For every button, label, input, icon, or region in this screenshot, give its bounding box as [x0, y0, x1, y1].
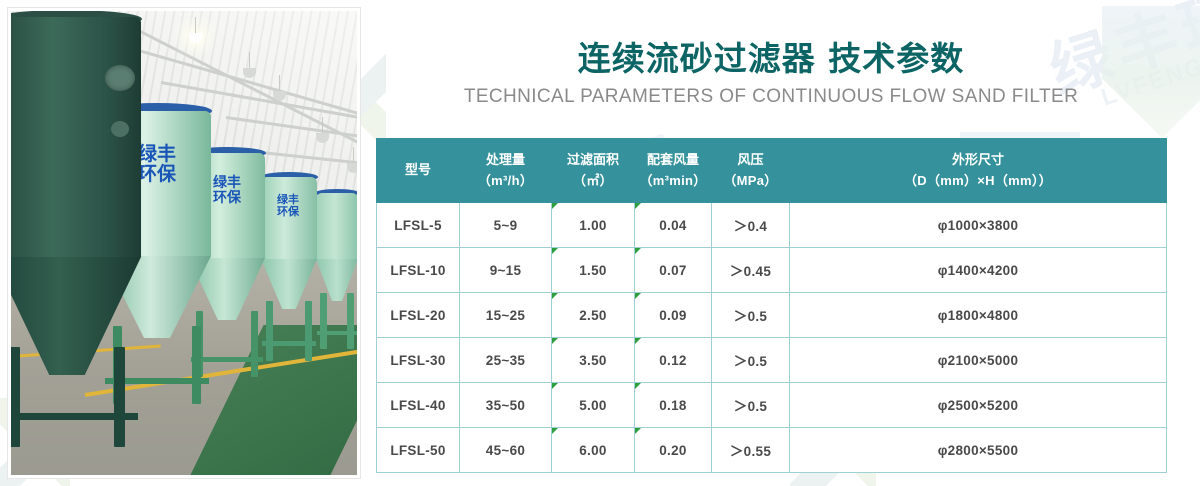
- spec-table-body: LFSL-5 5~9 1.00 0.04 ＞0.4 φ1000×3800 LFS…: [377, 203, 1167, 473]
- ceiling-lamp: [347, 163, 357, 173]
- page-title: 连续流砂过滤器 技术参数: [376, 32, 1166, 80]
- table-row: LFSL-5 5~9 1.00 0.04 ＞0.4 φ1000×3800: [377, 203, 1167, 248]
- col-header-air-pressure-unit: （MPa）: [714, 171, 787, 191]
- col-header-air-pressure: 风压 （MPa）: [712, 139, 790, 203]
- tank-brand-text: 绿丰环保: [211, 175, 243, 204]
- cell-model: LFSL-40: [377, 383, 460, 428]
- cell-air-pressure: ＞0.45: [712, 248, 790, 293]
- cell-air-pressure: ＞0.5: [712, 293, 790, 338]
- col-header-air-volume-label: 配套风量: [637, 150, 709, 170]
- tank-manhole-flange: [105, 65, 135, 91]
- col-header-capacity: 处理量 （m³/h）: [460, 139, 552, 203]
- tank-body: [316, 193, 357, 259]
- content-panel: 连续流砂过滤器 技术参数 TECHNICAL PARAMETERS OF CON…: [376, 0, 1200, 486]
- tank-body: [11, 17, 141, 257]
- table-row: LFSL-50 45~60 6.00 0.20 ＞0.55 φ2800×5500: [377, 428, 1167, 473]
- cell-air-volume: 0.18: [635, 383, 712, 428]
- col-header-air-volume-unit: （m³min）: [637, 171, 709, 191]
- tank-leg: [251, 311, 258, 377]
- filter-tank: [11, 17, 141, 447]
- col-header-area-unit: （㎡）: [554, 171, 632, 191]
- col-header-dimensions-unit: （D（mm）×H（mm））: [792, 171, 1164, 191]
- tank-base-beam: [11, 413, 138, 420]
- cell-air-volume: 0.09: [635, 293, 712, 338]
- cell-dimensions: φ2100×5000: [790, 338, 1167, 383]
- cell-model: LFSL-10: [377, 248, 460, 293]
- tank-leg: [11, 347, 20, 447]
- cell-capacity: 25~35: [460, 338, 552, 383]
- spec-table-header: 型号 处理量 （m³/h） 过滤面积 （㎡） 配套风量 （m³min）: [377, 139, 1167, 203]
- tank-nozzle: [111, 121, 129, 137]
- cell-area: 5.00: [552, 383, 635, 428]
- cell-capacity: 35~50: [460, 383, 552, 428]
- product-photo: 绿丰环保 绿丰环保: [8, 8, 360, 478]
- filter-tank: [316, 193, 357, 353]
- tank-base-beam: [317, 331, 357, 335]
- cell-capacity: 9~15: [460, 248, 552, 293]
- cell-dimensions: φ2500×5200: [790, 383, 1167, 428]
- table-row: LFSL-10 9~15 1.50 0.07 ＞0.45 φ1400×4200: [377, 248, 1167, 293]
- col-header-model-label: 型号: [379, 160, 457, 180]
- page-root: 绿丰环保 绿丰环保: [0, 0, 1200, 486]
- cell-area: 2.50: [552, 293, 635, 338]
- tank-base-beam: [262, 341, 316, 346]
- cell-area: 6.00: [552, 428, 635, 473]
- table-row: LFSL-40 35~50 5.00 0.18 ＞0.5 φ2500×5200: [377, 383, 1167, 428]
- tank-brand-text: 绿丰环保: [135, 145, 179, 185]
- tank-legs: [11, 347, 141, 453]
- tank-leg: [305, 301, 312, 361]
- col-header-model: 型号: [377, 139, 460, 203]
- cell-capacity: 5~9: [460, 203, 552, 248]
- cell-dimensions: φ1800×4800: [790, 293, 1167, 338]
- cell-area: 1.00: [552, 203, 635, 248]
- cell-air-pressure: ＞0.5: [712, 338, 790, 383]
- tank-leg: [266, 301, 273, 361]
- header-row: 型号 处理量 （m³/h） 过滤面积 （㎡） 配套风量 （m³min）: [377, 139, 1167, 203]
- col-header-dimensions: 外形尺寸 （D（mm）×H（mm））: [790, 139, 1167, 203]
- cell-dimensions: φ1000×3800: [790, 203, 1167, 248]
- cell-dimensions: φ1400×4200: [790, 248, 1167, 293]
- col-header-capacity-unit: （m³/h）: [462, 171, 549, 191]
- tank-leg: [347, 293, 354, 349]
- cell-air-pressure: ＞0.5: [712, 383, 790, 428]
- col-header-air-pressure-label: 风压: [714, 150, 787, 170]
- tank-legs: [261, 301, 317, 363]
- cell-air-volume: 0.07: [635, 248, 712, 293]
- tank-legs: [316, 293, 357, 351]
- cell-air-volume: 0.12: [635, 338, 712, 383]
- cell-air-pressure: ＞0.55: [712, 428, 790, 473]
- cell-area: 3.50: [552, 338, 635, 383]
- photo-canvas: 绿丰环保 绿丰环保: [11, 11, 357, 475]
- cell-model: LFSL-5: [377, 203, 460, 248]
- cell-area: 1.50: [552, 248, 635, 293]
- tank-leg: [114, 347, 125, 447]
- cell-air-volume: 0.20: [635, 428, 712, 473]
- page-subtitle: TECHNICAL PARAMETERS OF CONTINUOUS FLOW …: [376, 86, 1166, 108]
- col-header-area: 过滤面积 （㎡）: [552, 139, 635, 203]
- cell-air-volume: 0.04: [635, 203, 712, 248]
- col-header-capacity-label: 处理量: [462, 150, 549, 170]
- tank-brand-text: 绿丰环保: [275, 195, 301, 218]
- cell-capacity: 45~60: [460, 428, 552, 473]
- table-row: LFSL-30 25~35 3.50 0.12 ＞0.5 φ2100×5000: [377, 338, 1167, 383]
- filter-tank: 绿丰环保: [261, 177, 317, 362]
- tank-leg: [320, 293, 327, 349]
- cell-air-pressure: ＞0.4: [712, 203, 790, 248]
- tank-leg: [192, 326, 201, 404]
- col-header-air-volume: 配套风量 （m³min）: [635, 139, 712, 203]
- cell-model: LFSL-20: [377, 293, 460, 338]
- table-row: LFSL-20 15~25 2.50 0.09 ＞0.5 φ1800×4800: [377, 293, 1167, 338]
- col-header-area-label: 过滤面积: [554, 150, 632, 170]
- cell-dimensions: φ2800×5500: [790, 428, 1167, 473]
- col-header-dimensions-label: 外形尺寸: [792, 150, 1164, 170]
- cell-model: LFSL-30: [377, 338, 460, 383]
- cell-capacity: 15~25: [460, 293, 552, 338]
- cell-model: LFSL-50: [377, 428, 460, 473]
- spec-table: 型号 处理量 （m³/h） 过滤面积 （㎡） 配套风量 （m³min）: [376, 138, 1167, 473]
